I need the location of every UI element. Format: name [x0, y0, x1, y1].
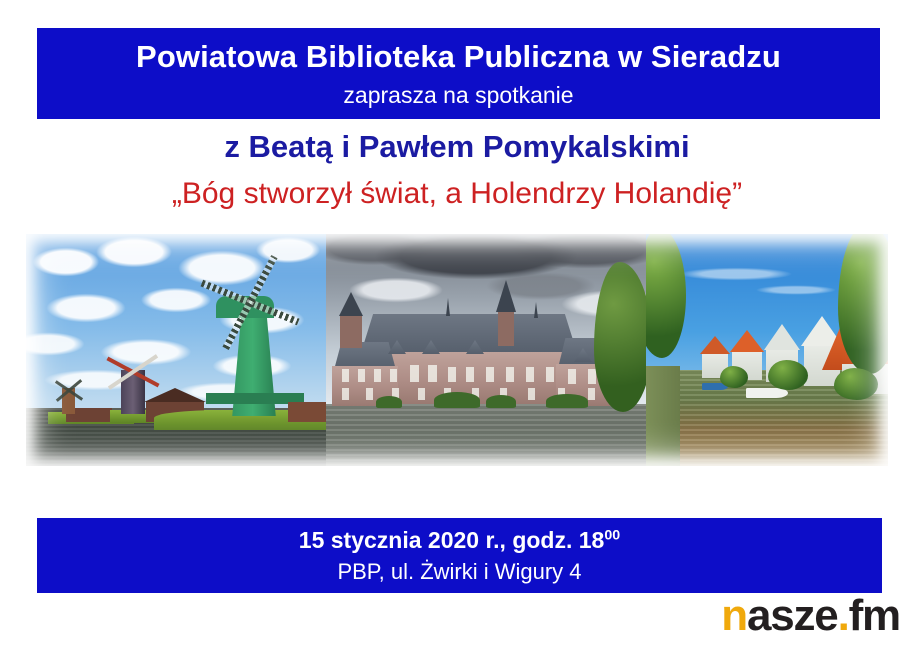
invitation-line: zaprasza na spotkanie — [343, 82, 573, 110]
shrub — [834, 368, 878, 400]
out-building — [288, 402, 326, 422]
hedge — [376, 396, 402, 408]
logo-dot: . — [838, 594, 849, 638]
hedge — [434, 392, 480, 408]
window — [342, 369, 349, 382]
window — [418, 388, 425, 400]
house-roof — [144, 388, 206, 402]
window — [366, 388, 373, 400]
tree — [594, 262, 646, 412]
hedge — [486, 395, 516, 408]
window — [506, 367, 514, 382]
hedge — [546, 394, 588, 408]
shrub — [768, 360, 808, 390]
window — [546, 367, 554, 382]
window — [466, 367, 474, 382]
logo-letters-asze: asze — [747, 594, 838, 638]
window — [526, 367, 534, 382]
tower-spire — [496, 280, 516, 312]
event-date-text: 15 stycznia 2020 r., godz. 18 — [299, 527, 605, 553]
photo-canal-village — [646, 234, 888, 466]
roof-finial — [534, 302, 538, 318]
photo-strip — [26, 234, 888, 466]
organization-name: Powiatowa Biblioteka Publiczna w Sieradz… — [136, 39, 781, 76]
event-datetime: 15 stycznia 2020 r., godz. 1800 — [299, 526, 620, 554]
headline-block: z Beatą i Pawłem Pomykalskimi „Bóg stwor… — [0, 128, 914, 213]
window — [428, 365, 437, 382]
corner-tower — [340, 314, 362, 348]
window — [448, 367, 456, 382]
window — [390, 369, 397, 382]
house-gable — [700, 336, 730, 354]
event-venue: PBP, ul. Żwirki i Wigury 4 — [337, 559, 581, 586]
window — [528, 388, 535, 400]
central-tower — [498, 310, 514, 346]
event-hour-minutes: 00 — [604, 527, 620, 543]
window — [358, 369, 365, 382]
towpath — [646, 366, 680, 466]
window — [568, 369, 576, 384]
photo-binnenhof — [326, 234, 646, 466]
logo-letters-fm: fm — [849, 594, 900, 638]
photo-windmills — [26, 234, 326, 466]
moored-boat — [746, 388, 788, 398]
bottom-banner: 15 stycznia 2020 r., godz. 1800 PBP, ul.… — [37, 518, 882, 593]
top-banner: Powiatowa Biblioteka Publiczna w Sieradz… — [37, 28, 880, 119]
nasze-fm-logo[interactable]: nasze.fm — [721, 592, 900, 640]
book-title: „Bóg stworzył świat, a Holendrzy Holandi… — [0, 174, 914, 213]
guest-names: z Beatą i Pawłem Pomykalskimi — [0, 128, 914, 167]
window — [374, 369, 381, 382]
tower-spire — [339, 292, 363, 316]
house-gable — [764, 324, 800, 350]
window — [588, 369, 596, 384]
event-poster: Powiatowa Biblioteka Publiczna w Sieradz… — [0, 0, 914, 645]
canal-water — [326, 404, 646, 466]
window — [486, 367, 494, 382]
window — [410, 365, 419, 382]
shrub — [720, 366, 748, 388]
house-gable — [730, 330, 764, 352]
logo-letter-n: n — [721, 594, 747, 638]
window — [588, 388, 595, 400]
roof-finial — [446, 298, 450, 316]
window — [342, 388, 349, 400]
